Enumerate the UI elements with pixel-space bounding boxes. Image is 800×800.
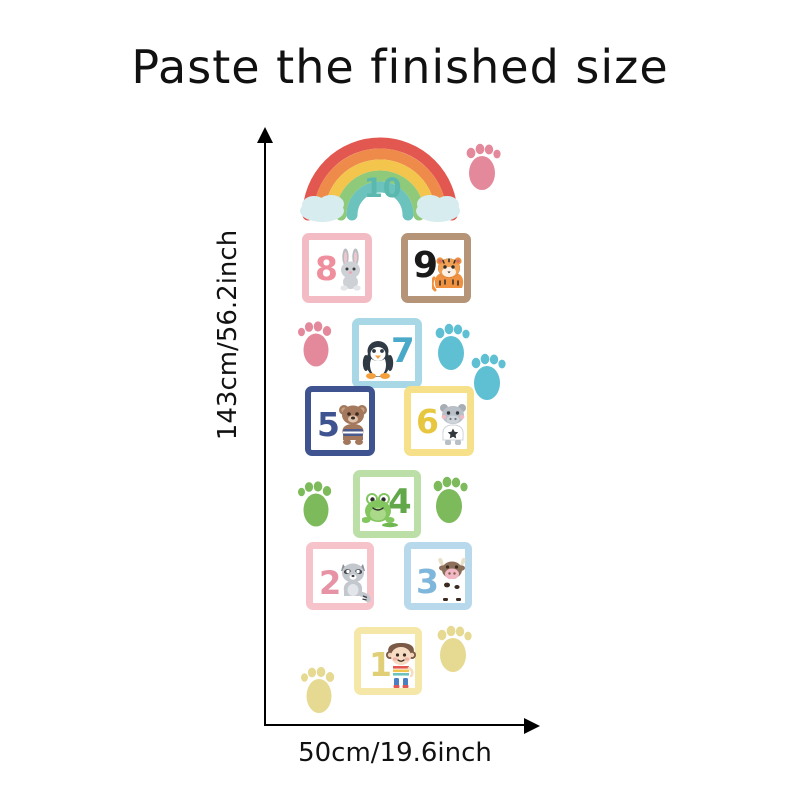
footprint-pink-top (463, 140, 503, 197)
footprint-green-row4-left (297, 478, 335, 533)
frog-illustration (362, 491, 398, 529)
tile-7: 7 (352, 318, 422, 388)
horizontal-axis-arrowhead (524, 718, 540, 734)
footprint-pink-row7-left (297, 318, 335, 373)
rabbit-illustration (336, 248, 366, 292)
footprint-teal-row7-a (432, 320, 472, 377)
tile-3: 3 (404, 542, 472, 610)
tile-5: 5 (305, 386, 375, 456)
footprint-green-row4-right (430, 473, 470, 530)
tile-6-number: 6 (416, 405, 439, 438)
tile-6: 6 (404, 386, 474, 456)
footprint-teal-row7-b (468, 350, 508, 407)
tile-8-number: 8 (315, 252, 338, 285)
tiger-illustration (432, 254, 466, 294)
width-dimension-label: 50cm/19.6inch (250, 738, 540, 768)
tile-8: 8 (302, 233, 372, 303)
cow-illustration (435, 555, 469, 603)
tile-2: 2 (306, 542, 374, 610)
product-image-canvas: Paste the finished size 10 (0, 0, 800, 800)
hippo-illustration (437, 400, 469, 448)
vertical-axis-line (264, 140, 266, 726)
rainbow-number-10: 10 (364, 175, 402, 202)
monkey-illustration (385, 642, 417, 688)
tile-4: 4 (353, 470, 421, 538)
raccoon-illustration (337, 556, 371, 602)
footprint-yellow-row1-right (434, 622, 474, 679)
tile-1: 1 (354, 627, 422, 695)
page-title: Paste the finished size (0, 40, 800, 94)
rainbow-arch: 10 (300, 135, 460, 225)
height-dimension-label: 143cm/56.2inch (213, 195, 243, 475)
horizontal-axis-line (264, 724, 526, 726)
penguin-illustration (362, 338, 394, 380)
tile-7-number: 7 (391, 334, 415, 368)
footprint-yellow-bottom-left (300, 663, 338, 720)
bear-illustration (337, 400, 369, 446)
tile-9: 9 (401, 233, 471, 303)
